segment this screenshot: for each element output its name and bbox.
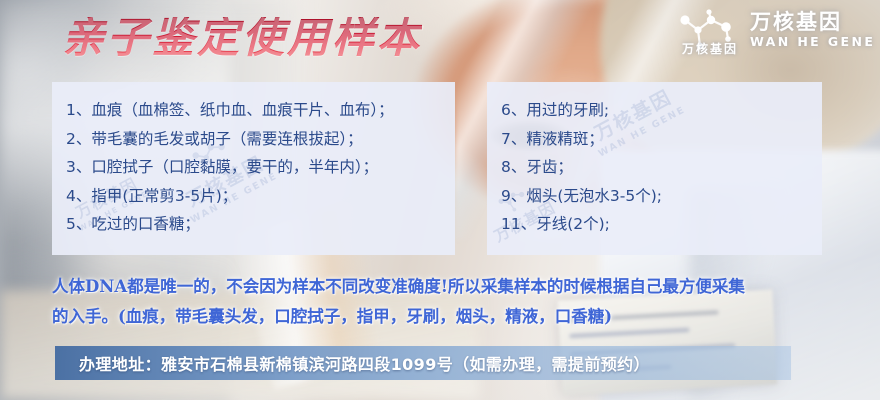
list-item: 3、口腔拭子（口腔黏膜，要干的，半年内）；: [66, 153, 455, 182]
sample-list-right: 6、用过的牙刷; 7、精液精斑； 8、牙齿； 9、烟头(无泡水3-5个); 11…: [487, 82, 822, 239]
brand-mark-label: 万核基因: [682, 40, 738, 57]
address-text: 办理地址：雅安市石棉县新棉镇滨河路四段1099号（如需办理，需提前预约）: [55, 351, 650, 375]
sample-list-panel-right: 万核基因 WAN HE GENE 万核基因 6、用过的牙刷; 7、精液精斑； 8…: [487, 82, 822, 255]
list-item: 6、用过的牙刷;: [501, 96, 822, 125]
address-bar: 办理地址：雅安市石棉县新棉镇滨河路四段1099号（如需办理，需提前预约）: [55, 346, 791, 380]
brand-name-en: WAN HE GENE: [750, 34, 875, 49]
list-item: 8、牙齿；: [501, 153, 822, 182]
note-line-1: 人体DNA都是唯一的，不会因为样本不同改变准确度!所以采集样本的时候根据自己最方…: [52, 272, 842, 302]
sample-list-left: 1、血痕（血棉签、纸巾血、血痕干片、血布）； 2、带毛囊的毛发或胡子（需要连根拔…: [52, 82, 455, 239]
list-item: 1、血痕（血棉签、纸巾血、血痕干片、血布）；: [66, 96, 455, 125]
list-item: 7、精液精斑；: [501, 125, 822, 154]
list-item: 2、带毛囊的毛发或胡子（需要连根拔起）；: [66, 125, 455, 154]
page-title: 亲子鉴定使用样本: [62, 17, 422, 59]
poster-root: 亲子鉴定使用样本: [0, 0, 880, 400]
list-item: 11、牙线(2个);: [501, 210, 822, 239]
list-item: 5、吃过的口香糖；: [66, 210, 455, 239]
sample-list-panel-left: 万核基因 WAN HE GENE 万核基因 WAN HE GENE 1、血痕（血…: [52, 82, 455, 255]
list-item: 4、指甲(正常剪3-5片)；: [66, 182, 455, 211]
brand-name-cn: 万核基因: [750, 11, 875, 34]
brand-wordmark: 万核基因 WAN HE GENE: [750, 11, 875, 49]
note-line-2: 的入手。(血痕，带毛囊头发，口腔拭子，指甲，牙刷，烟头，精液，口香糖): [52, 302, 842, 332]
note-paragraph: 人体DNA都是唯一的，不会因为样本不同改变准确度!所以采集样本的时候根据自己最方…: [52, 272, 842, 332]
list-item: 9、烟头(无泡水3-5个);: [501, 182, 822, 211]
